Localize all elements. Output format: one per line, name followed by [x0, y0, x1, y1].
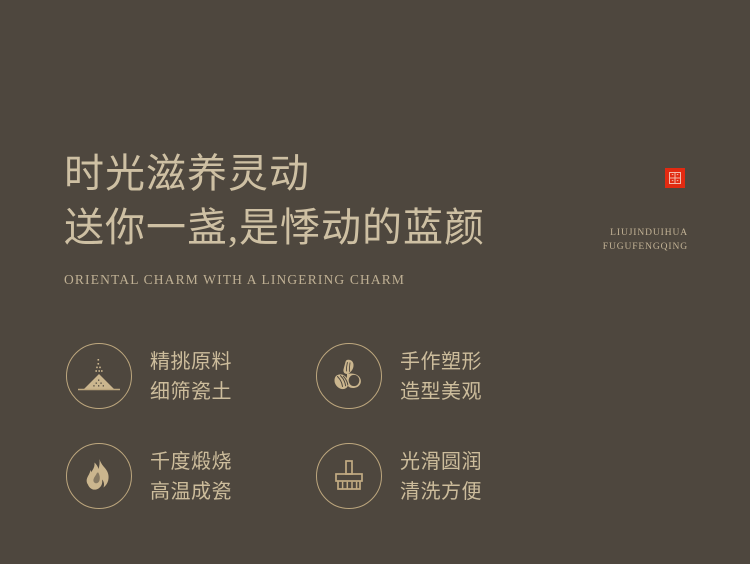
brand-pinyin-line-2: FUGUFENGQING [548, 240, 688, 254]
feature-item: 光滑圆润 清洗方便 [316, 426, 566, 526]
feature-text: 光滑圆润 清洗方便 [400, 446, 482, 506]
hands-shaping-pottery-icon [316, 343, 382, 409]
feature-line-1: 光滑圆润 [400, 446, 482, 476]
headline-block: 时光滋养灵动 送你一盏,是悸动的蓝颜 ORIENTAL CHARM WITH A… [64, 148, 584, 288]
feature-line-1: 精挑原料 [150, 346, 232, 376]
feature-item: 千度煅烧 高温成瓷 [66, 426, 316, 526]
feature-line-2: 清洗方便 [400, 476, 482, 506]
feature-line-2: 高温成瓷 [150, 476, 232, 506]
clay-pile-sieve-icon [66, 343, 132, 409]
feature-line-2: 造型美观 [400, 376, 482, 406]
headline-line-1: 时光滋养灵动 [64, 148, 584, 200]
feature-item: 手作塑形 造型美观 [316, 326, 566, 426]
flame-icon [66, 443, 132, 509]
feature-grid: 精挑原料 细筛瓷土 [66, 326, 626, 526]
headline-subtitle: ORIENTAL CHARM WITH A LINGERING CHARM [64, 272, 584, 288]
feature-line-1: 千度煅烧 [150, 446, 232, 476]
promo-banner: 时光滋养灵动 送你一盏,是悸动的蓝颜 ORIENTAL CHARM WITH A… [0, 0, 750, 564]
feature-text: 手作塑形 造型美观 [400, 346, 482, 406]
headline-line-2: 送你一盏,是悸动的蓝颜 [64, 202, 584, 254]
feature-text: 千度煅烧 高温成瓷 [150, 446, 232, 506]
brand-pinyin: LIUJINDUIHUA FUGUFENGQING [548, 226, 688, 254]
feature-item: 精挑原料 细筛瓷土 [66, 326, 316, 426]
brand-pinyin-line-1: LIUJINDUIHUA [548, 226, 688, 240]
feature-text: 精挑原料 细筛瓷土 [150, 346, 232, 406]
cleaning-brush-icon [316, 443, 382, 509]
feature-line-2: 细筛瓷土 [150, 376, 232, 406]
red-square-seal-icon [665, 168, 685, 188]
brand-block: LIUJINDUIHUA FUGUFENGQING [548, 168, 688, 254]
feature-line-1: 手作塑形 [400, 346, 482, 376]
